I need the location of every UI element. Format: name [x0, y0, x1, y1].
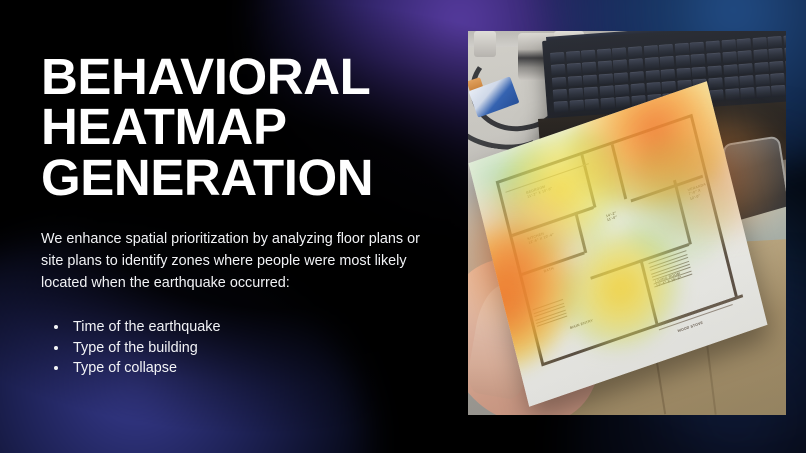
presentation-slide: BEHAVIORAL HEATMAP GENERATION We enhance… — [0, 0, 806, 453]
list-item: Type of the building — [69, 338, 441, 358]
content-column: BEHAVIORAL HEATMAP GENERATION We enhance… — [41, 52, 441, 378]
photo-grain-overlay — [468, 31, 786, 415]
list-item: Type of collapse — [69, 358, 441, 378]
list-item: Time of the earthquake — [69, 317, 441, 337]
body-paragraph: We enhance spatial prioritization by ana… — [41, 229, 436, 295]
page-title: BEHAVIORAL HEATMAP GENERATION — [41, 52, 441, 203]
heatmap-photo: KITCHEN 12'-6" X 10'-4" BEDROOM 11'-2" X… — [468, 31, 786, 415]
bullet-list: Time of the earthquake Type of the build… — [69, 317, 441, 378]
